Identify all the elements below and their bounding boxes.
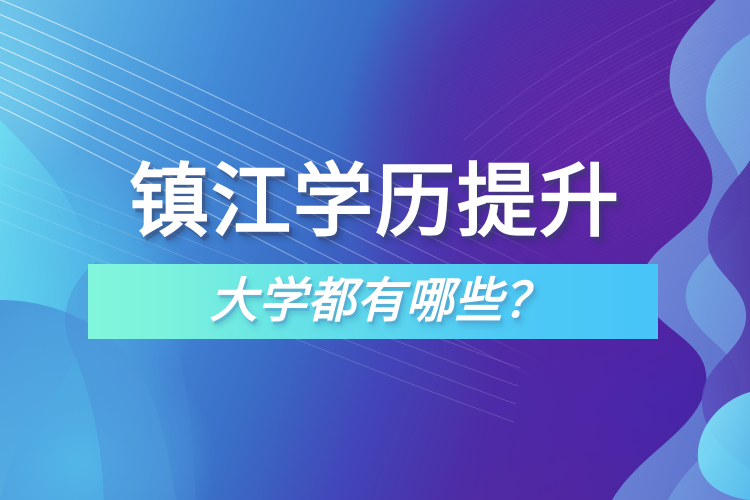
subtitle-banner: 大学都有哪些？ xyxy=(88,264,658,339)
title-container: 镇江学历提升 xyxy=(0,152,750,252)
promo-banner: 镇江学历提升 大学都有哪些？ xyxy=(0,0,750,500)
subtitle-text: 大学都有哪些？ xyxy=(209,278,552,326)
page-title: 镇江学历提升 xyxy=(129,162,621,242)
